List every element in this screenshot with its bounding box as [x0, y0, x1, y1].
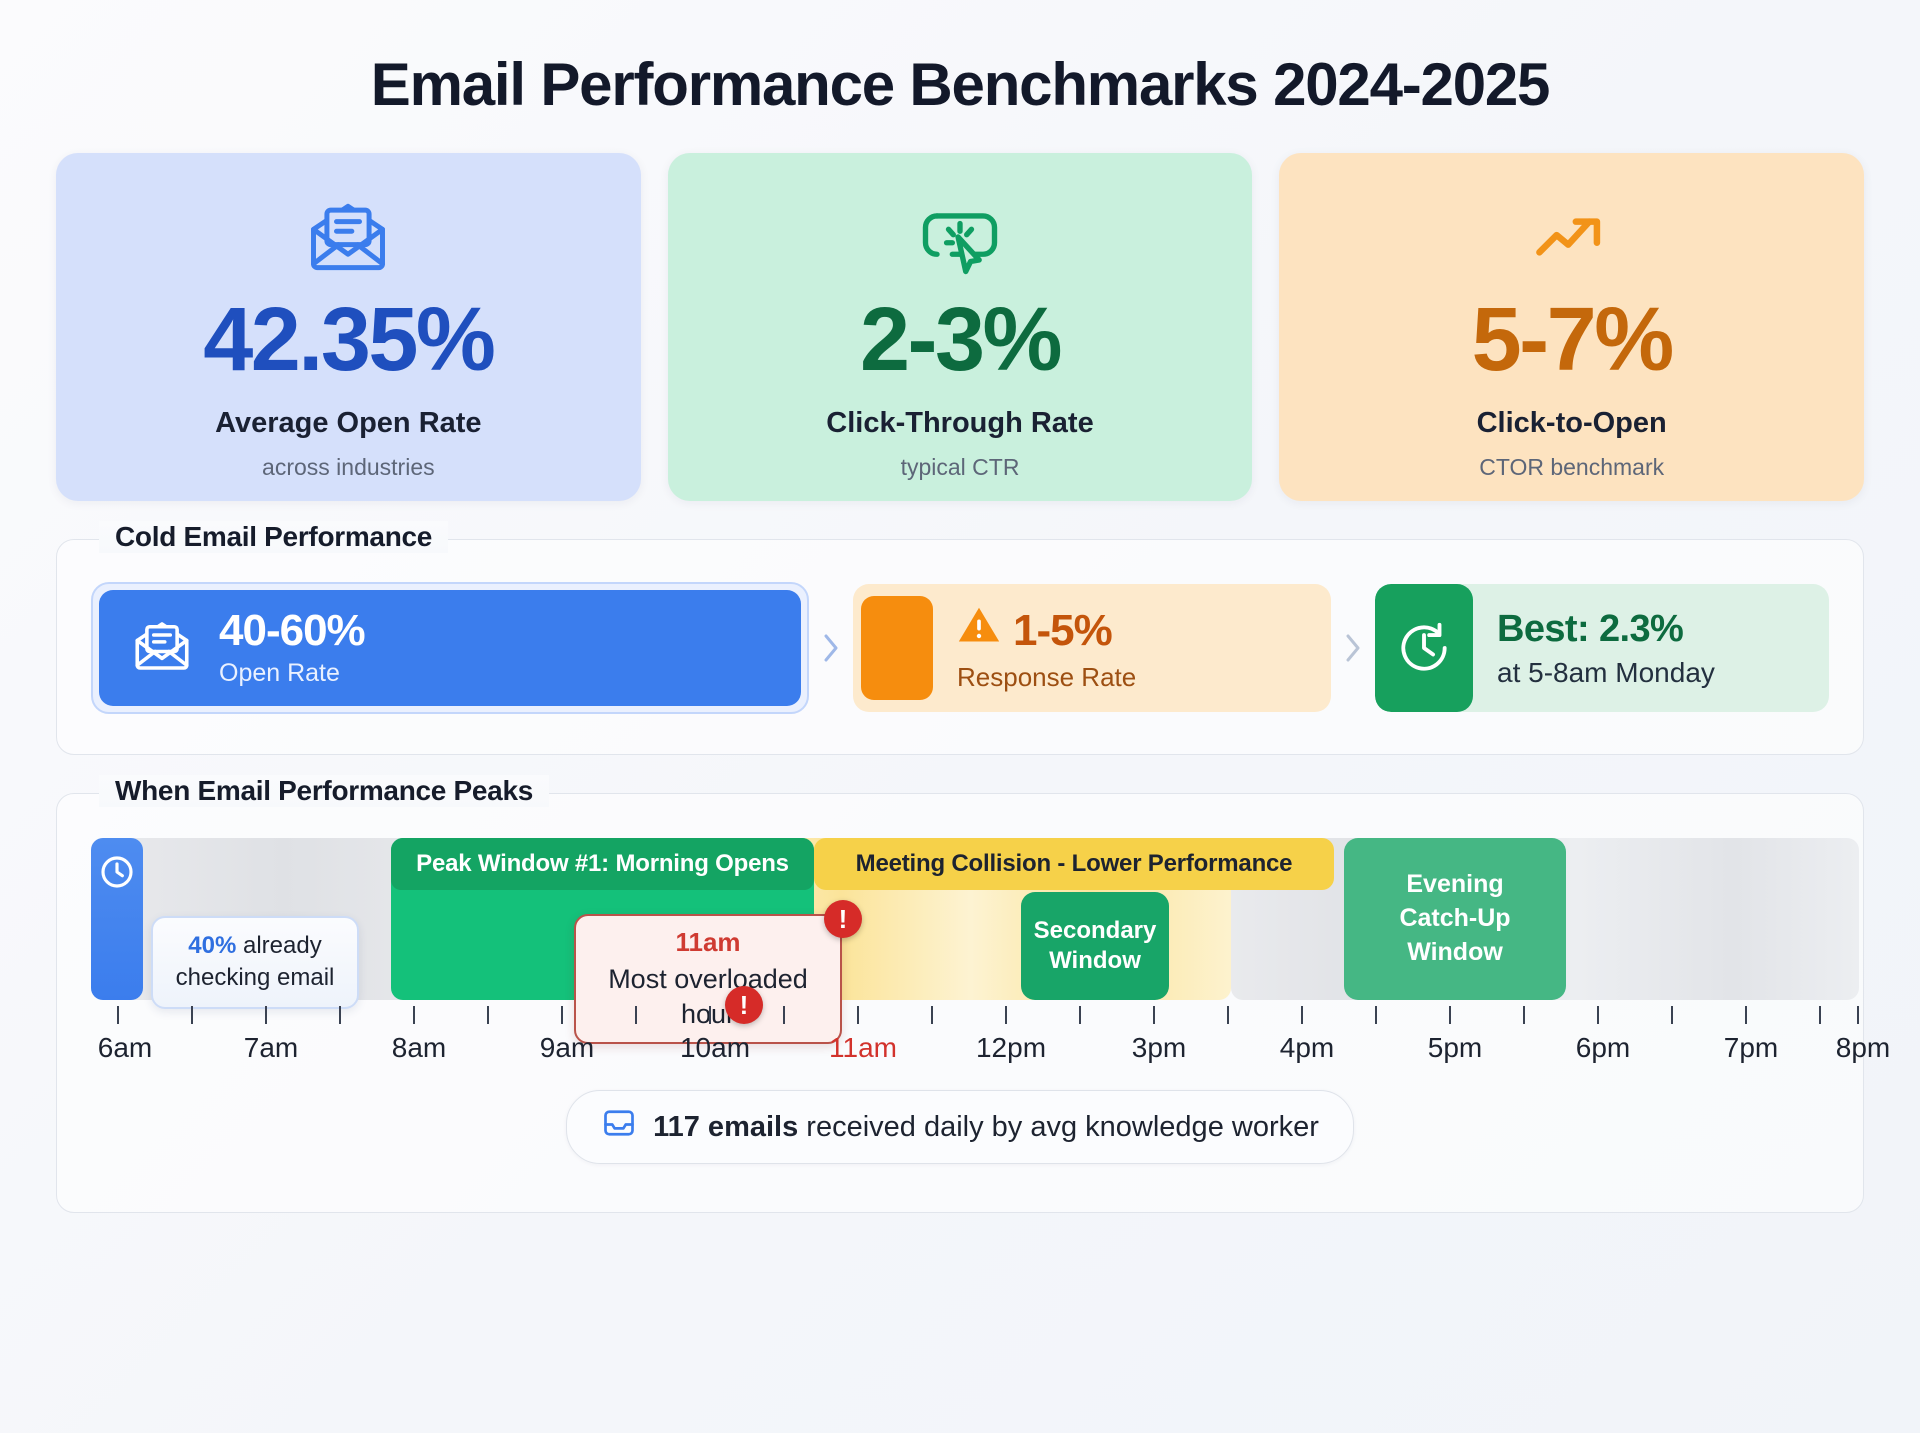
daily-email-volume-badge: 117 emails received daily by avg knowled… — [566, 1090, 1354, 1164]
axis-tick — [191, 1006, 193, 1024]
axis-tick — [487, 1006, 489, 1024]
axis-label-6pm: 6pm — [1576, 1032, 1630, 1064]
flow-step-label: Response Rate — [957, 662, 1136, 693]
axis-tick — [265, 1006, 267, 1024]
stat-sublabel: across industries — [262, 454, 435, 481]
axis-tick — [1745, 1006, 1747, 1024]
flow-step-value: 40-60% — [219, 608, 365, 654]
callout-line-2: checking email — [176, 964, 335, 991]
axis-tick — [1079, 1006, 1081, 1024]
axis-tick — [339, 1006, 341, 1024]
axis-tick — [1449, 1006, 1451, 1024]
axis-label-11am: 11am — [829, 1032, 897, 1064]
stat-label: Click-Through Rate — [826, 407, 1093, 440]
footer-text: 117 emails received daily by avg knowled… — [653, 1111, 1319, 1144]
axis-label-5pm: 5pm — [1428, 1032, 1482, 1064]
cold-email-performance-section: Cold Email Performance 40-60% — [56, 539, 1864, 755]
axis-tick — [1523, 1006, 1525, 1024]
flow-step-best-time: Best: 2.3% at 5-8am Monday — [1375, 584, 1829, 712]
flow-step-response-rate: 1-5% Response Rate — [853, 584, 1331, 712]
clock-rotate-icon — [1375, 584, 1473, 712]
axis-label-12pm: 12pm — [976, 1032, 1046, 1064]
open-envelope-icon — [302, 189, 394, 285]
cold-email-legend: Cold Email Performance — [99, 521, 448, 553]
infographic-page: Email Performance Benchmarks 2024-2025 4… — [0, 0, 1920, 1433]
axis-tick — [1857, 1006, 1859, 1024]
timeline-band-label-line: Evening — [1406, 868, 1503, 902]
flow-step-value: Best: 2.3% — [1497, 608, 1715, 651]
axis-tick — [117, 1006, 119, 1024]
timeline-band-evening-catchup: Evening Catch-Up Window — [1344, 838, 1566, 1000]
cursor-click-icon — [914, 189, 1006, 285]
axis-label-9am: 9am — [540, 1032, 594, 1064]
axis-label-8am: 8am — [392, 1032, 446, 1064]
timeline-axis: 6am 7am 8am 9am 10am 11am 12pm 3pm 4pm 5… — [91, 1006, 1829, 1090]
axis-tick — [635, 1006, 637, 1024]
timeline-band-label-line: Secondary — [1034, 916, 1157, 946]
alert-badge-icon: ! — [824, 900, 862, 938]
axis-tick — [709, 1006, 711, 1024]
inbox-icon — [601, 1105, 637, 1149]
callout-rest: already — [236, 932, 321, 959]
warning-triangle-icon — [957, 603, 1001, 658]
axis-tick — [857, 1006, 859, 1024]
axis-tick — [1597, 1006, 1599, 1024]
footer-rest: received daily by avg knowledge worker — [798, 1111, 1319, 1143]
timeline-band-label-line: Window — [1407, 936, 1503, 970]
stat-value: 5-7% — [1472, 295, 1672, 385]
stat-card-click-to-open: 5-7% Click-to-Open CTOR benchmark — [1279, 153, 1864, 501]
stat-card-row: 42.35% Average Open Rate across industri… — [56, 153, 1864, 501]
timeline-start-marker — [91, 838, 143, 1000]
footer-badge-wrap: 117 emails received daily by avg knowled… — [91, 1090, 1829, 1190]
orange-accent-block — [861, 596, 933, 700]
axis-tick — [1153, 1006, 1155, 1024]
chevron-right-icon — [809, 628, 853, 668]
timeline-band-label-line: Catch-Up — [1399, 902, 1510, 936]
stat-sublabel: CTOR benchmark — [1479, 454, 1664, 481]
stat-value: 42.35% — [203, 295, 493, 385]
axis-tick — [1671, 1006, 1673, 1024]
axis-tick — [1301, 1006, 1303, 1024]
axis-tick — [1819, 1006, 1821, 1024]
page-title: Email Performance Benchmarks 2024-2025 — [56, 0, 1864, 153]
axis-label-6am: 6am — [98, 1032, 152, 1064]
flow-step-value: 1-5% — [1013, 606, 1112, 656]
axis-tick — [413, 1006, 415, 1024]
axis-tick — [783, 1006, 785, 1024]
trending-up-icon — [1526, 189, 1618, 285]
callout-morning-checking: 40% already checking email — [151, 916, 359, 1009]
axis-tick — [1005, 1006, 1007, 1024]
stat-label: Click-to-Open — [1477, 407, 1667, 440]
flow-step-label: Open Rate — [219, 659, 365, 688]
cold-email-flow: 40-60% Open Rate 1-5% Resp — [57, 540, 1863, 754]
flow-step-open-rate: 40-60% Open Rate — [91, 582, 809, 714]
axis-label-4pm: 4pm — [1280, 1032, 1334, 1064]
timeline-band-label-line: Window — [1049, 946, 1141, 976]
axis-label-7pm: 7pm — [1724, 1032, 1778, 1064]
axis-label-8pm: 8pm — [1836, 1032, 1890, 1064]
timeline-band-meeting-collision: Meeting Collision - Lower Performance — [814, 838, 1334, 890]
stat-label: Average Open Rate — [215, 407, 481, 440]
open-envelope-icon — [129, 613, 195, 684]
callout-hour: 11am — [594, 926, 822, 960]
timeline-track: Peak Window #1: Morning Opens Meeting Co… — [91, 838, 1829, 1000]
chevron-right-icon — [1331, 628, 1375, 668]
axis-tick — [561, 1006, 563, 1024]
flow-step-label: at 5-8am Monday — [1497, 657, 1715, 689]
email-peaks-section: When Email Performance Peaks P — [56, 793, 1864, 1213]
axis-label-3pm: 3pm — [1132, 1032, 1186, 1064]
timeline-legend: When Email Performance Peaks — [99, 775, 549, 807]
footer-strong: 117 emails — [653, 1111, 798, 1143]
timeline-body: Peak Window #1: Morning Opens Meeting Co… — [57, 794, 1863, 1212]
timeline-band-label: Peak Window #1: Morning Opens — [391, 838, 814, 890]
axis-tick — [931, 1006, 933, 1024]
clock-icon — [97, 852, 137, 1000]
stat-card-open-rate: 42.35% Average Open Rate across industri… — [56, 153, 641, 501]
axis-label-7am: 7am — [244, 1032, 298, 1064]
stat-sublabel: typical CTR — [901, 454, 1020, 481]
stat-card-click-through-rate: 2-3% Click-Through Rate typical CTR — [668, 153, 1253, 501]
axis-tick — [1227, 1006, 1229, 1024]
axis-tick — [1375, 1006, 1377, 1024]
axis-label-10am: 10am — [680, 1032, 750, 1064]
timeline-band-secondary-window: Secondary Window — [1021, 892, 1169, 1000]
stat-value: 2-3% — [860, 295, 1060, 385]
callout-highlight: 40% — [188, 932, 236, 959]
